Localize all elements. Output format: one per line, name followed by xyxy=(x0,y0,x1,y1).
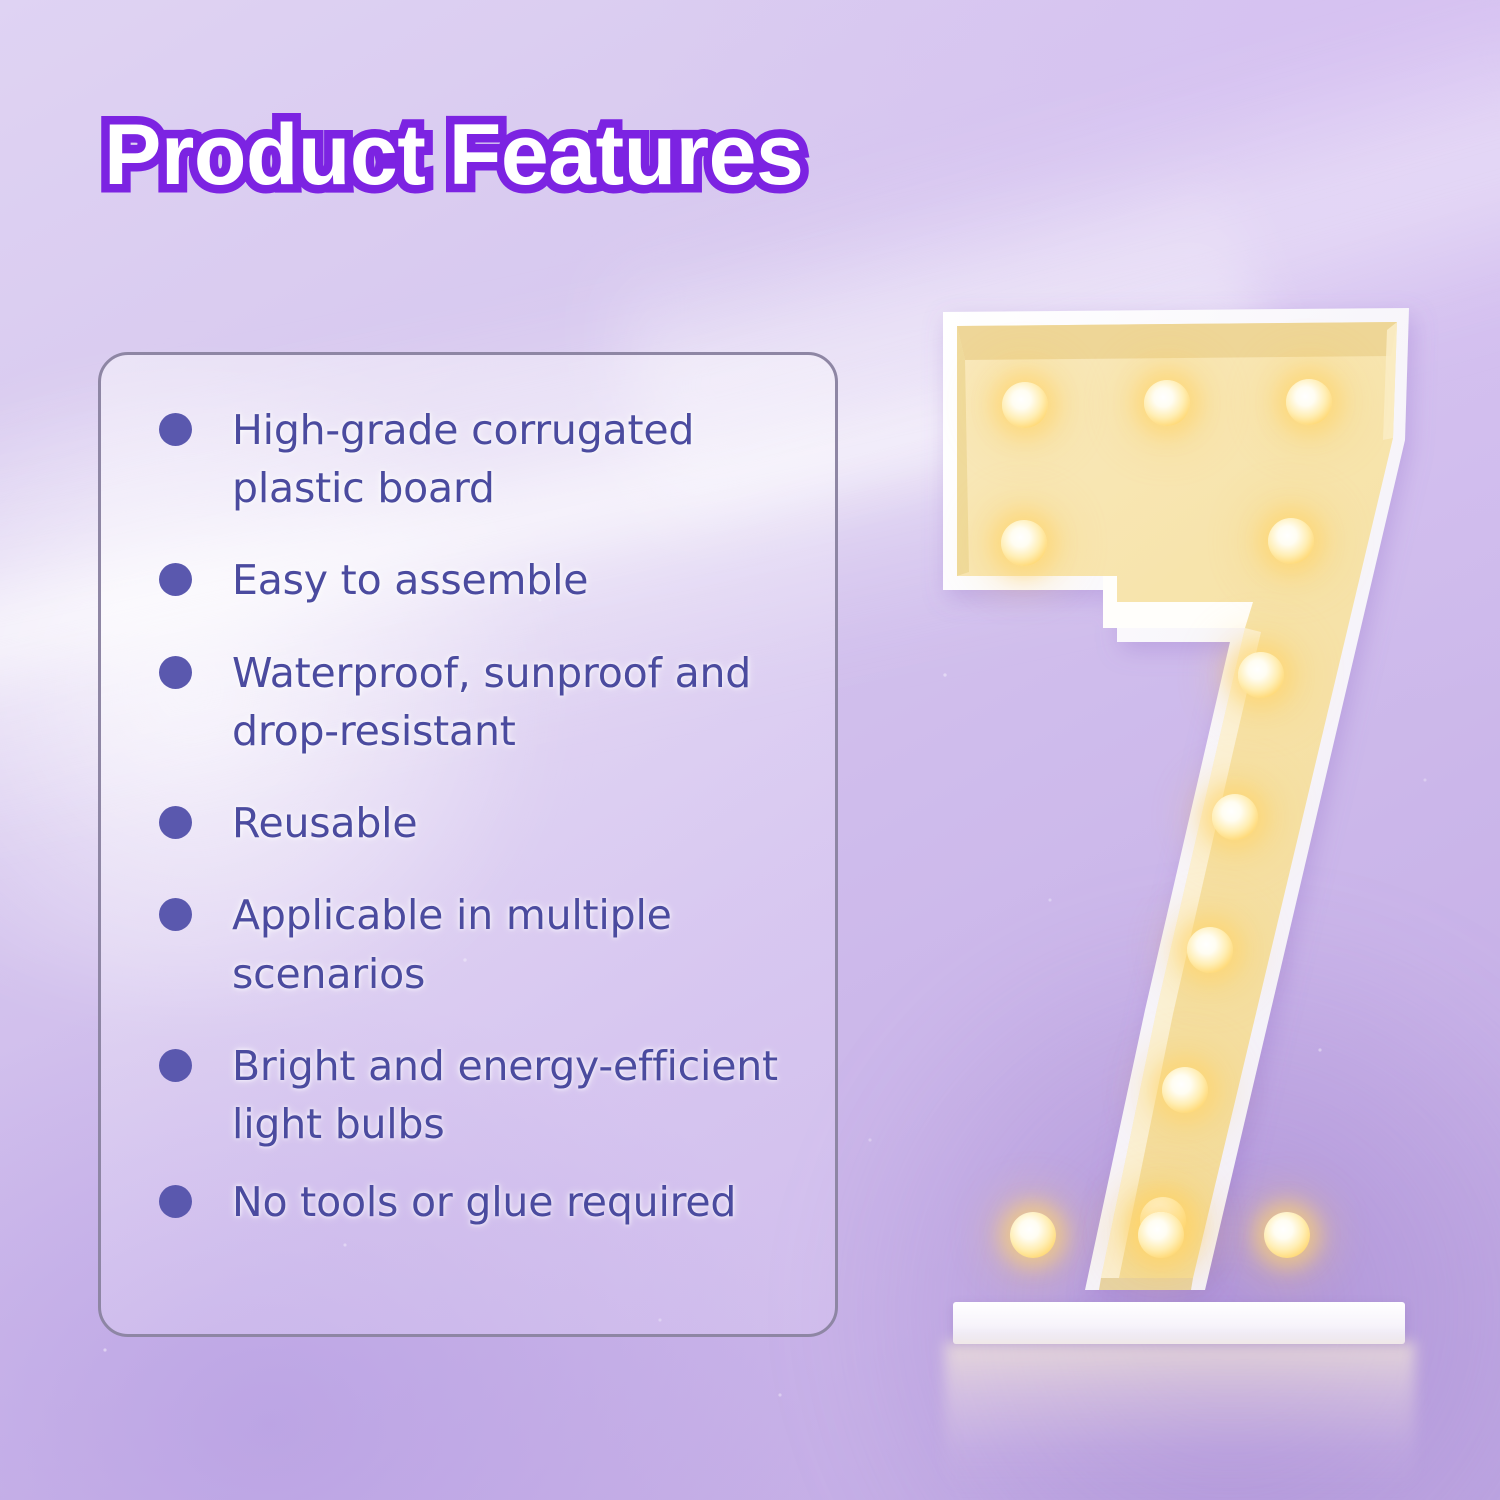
seven-shape xyxy=(905,290,1465,1410)
feature-label: High-grade corrugated plastic board xyxy=(232,401,792,517)
feature-label: Applicable in multiple scenarios xyxy=(232,886,792,1002)
seven-bottom-shelf xyxy=(1099,1278,1193,1290)
marquee-seven-sign xyxy=(905,290,1465,1410)
bullet-icon xyxy=(159,806,192,839)
bullet-icon xyxy=(159,563,192,596)
feature-list: High-grade corrugated plastic board Easy… xyxy=(101,355,835,1334)
list-item: Reusable xyxy=(159,794,801,852)
feature-label: Bright and energy-efficient light bulbs xyxy=(232,1037,792,1153)
list-item: Easy to assemble xyxy=(159,551,801,609)
bullet-icon xyxy=(159,1185,192,1218)
product-image xyxy=(905,290,1465,1410)
feature-label: Reusable xyxy=(232,794,417,852)
bullet-icon xyxy=(159,898,192,931)
feature-label: No tools or glue required xyxy=(232,1173,736,1231)
seven-inner-face xyxy=(957,322,1397,1278)
list-item: Bright and energy-efficient light bulbs xyxy=(159,1037,801,1153)
feature-label: Waterproof, sunproof and drop-resistant xyxy=(232,644,792,760)
list-item: Waterproof, sunproof and drop-resistant xyxy=(159,644,801,760)
feature-label: Easy to assemble xyxy=(232,551,588,609)
product-feature-graphic: Product Features High-grade corrugated p… xyxy=(0,0,1500,1500)
bullet-icon xyxy=(159,1049,192,1082)
list-item: High-grade corrugated plastic board xyxy=(159,401,801,517)
seven-top-bevel xyxy=(957,322,1397,360)
features-panel: High-grade corrugated plastic board Easy… xyxy=(98,352,838,1337)
bullet-icon xyxy=(159,656,192,689)
list-item: Applicable in multiple scenarios xyxy=(159,886,801,1002)
sign-base-plate xyxy=(953,1302,1405,1344)
list-item: No tools or glue required xyxy=(159,1173,801,1231)
page-title: Product Features xyxy=(104,112,803,198)
bullet-icon xyxy=(159,413,192,446)
